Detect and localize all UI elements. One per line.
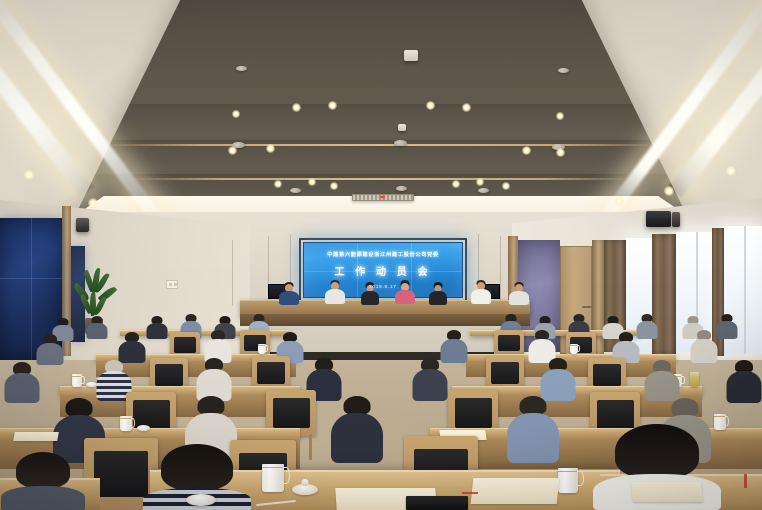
downlight-icon [556, 148, 565, 157]
downlight-icon [266, 144, 275, 153]
attendee [196, 358, 232, 400]
teacup-foreground [262, 464, 284, 492]
ceiling-gold-trim [131, 178, 631, 180]
attendee [540, 358, 576, 400]
presidium-member [470, 280, 492, 304]
document-stamp [462, 492, 478, 494]
teacup [570, 344, 578, 354]
attendee [86, 316, 108, 338]
downlight-icon [462, 103, 471, 112]
teacup-foreground [558, 468, 578, 493]
chair [494, 330, 524, 356]
teacup [72, 374, 82, 387]
vent-indicator-light [380, 196, 385, 198]
ceiling-gold-trim [101, 144, 661, 146]
ceiling-speaker-icon [558, 68, 569, 73]
downlight-icon [726, 166, 736, 176]
attendee [118, 332, 146, 362]
downlight-icon [426, 101, 435, 110]
wall-panel-seam [232, 240, 233, 306]
chair [486, 356, 524, 390]
downlight-icon [24, 170, 34, 180]
wall-panel-seam [500, 236, 501, 306]
presidium-member [428, 282, 448, 304]
attendee-foreground [0, 452, 86, 510]
teacup-lid [137, 425, 150, 431]
downlight-icon [88, 198, 98, 208]
notebook-foreground [406, 496, 468, 510]
teacup-lid-foreground [292, 484, 318, 495]
downlight-icon [614, 196, 624, 206]
downlight-icon [228, 146, 237, 155]
document-foreground [631, 482, 703, 502]
downlight-icon [330, 182, 338, 190]
attendee [726, 360, 762, 402]
panel-seam [31, 218, 32, 360]
wall-control-plate [166, 280, 178, 289]
wall-speaker-icon [646, 211, 671, 227]
downlight-icon [328, 101, 337, 110]
downlight-icon [522, 146, 531, 155]
downlight-icon [556, 112, 564, 120]
attendee [36, 334, 64, 364]
downlight-icon [274, 180, 282, 188]
attendee [644, 360, 680, 400]
smoke-detector-icon [398, 124, 406, 131]
document-foreground [471, 478, 560, 504]
downlight-icon [232, 110, 240, 118]
attendee [4, 362, 40, 402]
ceiling-speaker-icon [478, 188, 489, 193]
downlight-icon [664, 186, 674, 196]
screen-date: 2019.6.17 [369, 284, 397, 289]
downlight-icon [308, 178, 316, 186]
ceiling-speaker-icon [236, 66, 247, 71]
teacup [258, 344, 266, 354]
downlight-icon [452, 180, 460, 188]
attendee [716, 314, 738, 338]
ceiling-speaker-icon [394, 140, 407, 146]
attendee [412, 358, 448, 400]
presidium-member [278, 282, 300, 304]
chair [252, 356, 290, 390]
smoke-detector-icon [404, 50, 418, 61]
document [13, 432, 59, 441]
teacup [120, 416, 132, 431]
wall-speaker-icon [672, 212, 680, 227]
ceiling-speaker-icon [396, 186, 407, 191]
presidium-member [324, 280, 346, 304]
presidium-member [508, 282, 530, 304]
attendee [506, 396, 560, 460]
wall-speaker-icon [76, 218, 89, 232]
downlight-icon [476, 178, 484, 186]
presidium-member [394, 280, 416, 304]
attendee [330, 396, 384, 460]
ceiling-speaker-icon [290, 188, 301, 193]
document-stamp [744, 474, 747, 488]
attendee [146, 316, 168, 338]
attendee [690, 330, 718, 362]
conference-room-photo: 中建第六能源建设浙江州建工股份公司党委 工 作 动 员 会 2019.6.17 [0, 0, 762, 510]
downlight-icon [292, 103, 301, 112]
screen-title: 工 作 动 员 会 [334, 263, 431, 278]
tea-glass [690, 372, 699, 387]
saucer-foreground [186, 494, 216, 506]
downlight-icon [502, 182, 510, 190]
window-mullion [744, 226, 746, 354]
presidium-table-skirt [240, 314, 530, 326]
screen-headline: 中建第六能源建设浙江州建工股份公司党委 [327, 251, 439, 258]
